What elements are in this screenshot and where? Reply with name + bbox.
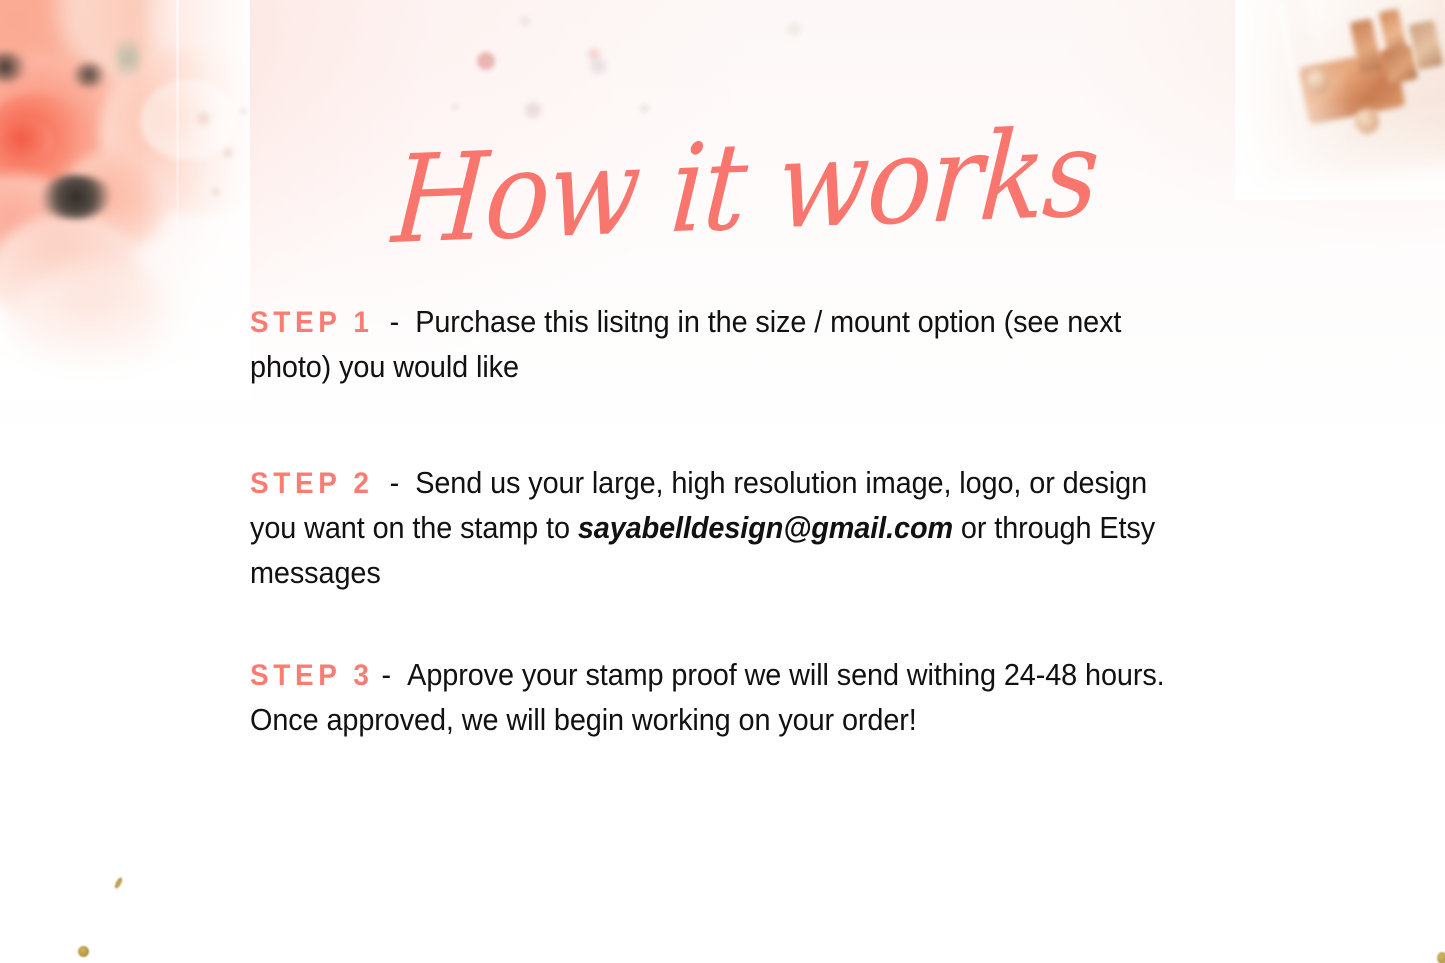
rose-gold-object-decoration xyxy=(1235,0,1445,200)
step-item: STEP 3 - Approve your stamp proof we wil… xyxy=(250,653,1260,742)
confetti-dot xyxy=(240,108,247,115)
step-1-separator: - xyxy=(374,304,416,339)
how-it-works-graphic: How it works STEP 1 - Purchase this lisi… xyxy=(0,0,1445,963)
step-3-label: STEP 3 xyxy=(250,659,374,692)
rose-gold-fade-overlay xyxy=(1235,0,1445,200)
step-1-label: STEP 1 xyxy=(250,306,374,339)
confetti-dot xyxy=(197,112,210,125)
page-title: How it works xyxy=(415,108,1075,268)
step-1-paragraph: STEP 1 - Purchase this lisitng in the si… xyxy=(250,300,1189,389)
steps-list: STEP 1 - Purchase this lisitng in the si… xyxy=(250,300,1260,742)
confetti-dot xyxy=(520,16,530,26)
floral-fade-overlay xyxy=(0,0,250,400)
step-2-label: STEP 2 xyxy=(250,467,374,500)
step-2-email: sayabelldesign@gmail.com xyxy=(578,510,953,545)
page-title-text: How it works xyxy=(389,114,1101,262)
step-item: STEP 2 - Send us your large, high resolu… xyxy=(250,461,1260,595)
step-3-paragraph: STEP 3 - Approve your stamp proof we wil… xyxy=(250,653,1189,742)
confetti-dot xyxy=(590,58,606,74)
step-item: STEP 1 - Purchase this lisitng in the si… xyxy=(250,300,1260,389)
floral-corner-decoration xyxy=(0,0,250,400)
confetti-dot xyxy=(787,22,801,36)
confetti-dot xyxy=(212,188,220,196)
step-2-separator: - xyxy=(374,465,416,500)
gold-speck xyxy=(1437,952,1445,963)
floral-photo-seam xyxy=(176,0,179,330)
confetti-dot xyxy=(223,148,233,158)
confetti-dot xyxy=(477,52,495,70)
step-2-paragraph: STEP 2 - Send us your large, high resolu… xyxy=(250,461,1189,595)
gold-speck xyxy=(78,946,89,957)
step-3-separator: - xyxy=(374,657,408,692)
